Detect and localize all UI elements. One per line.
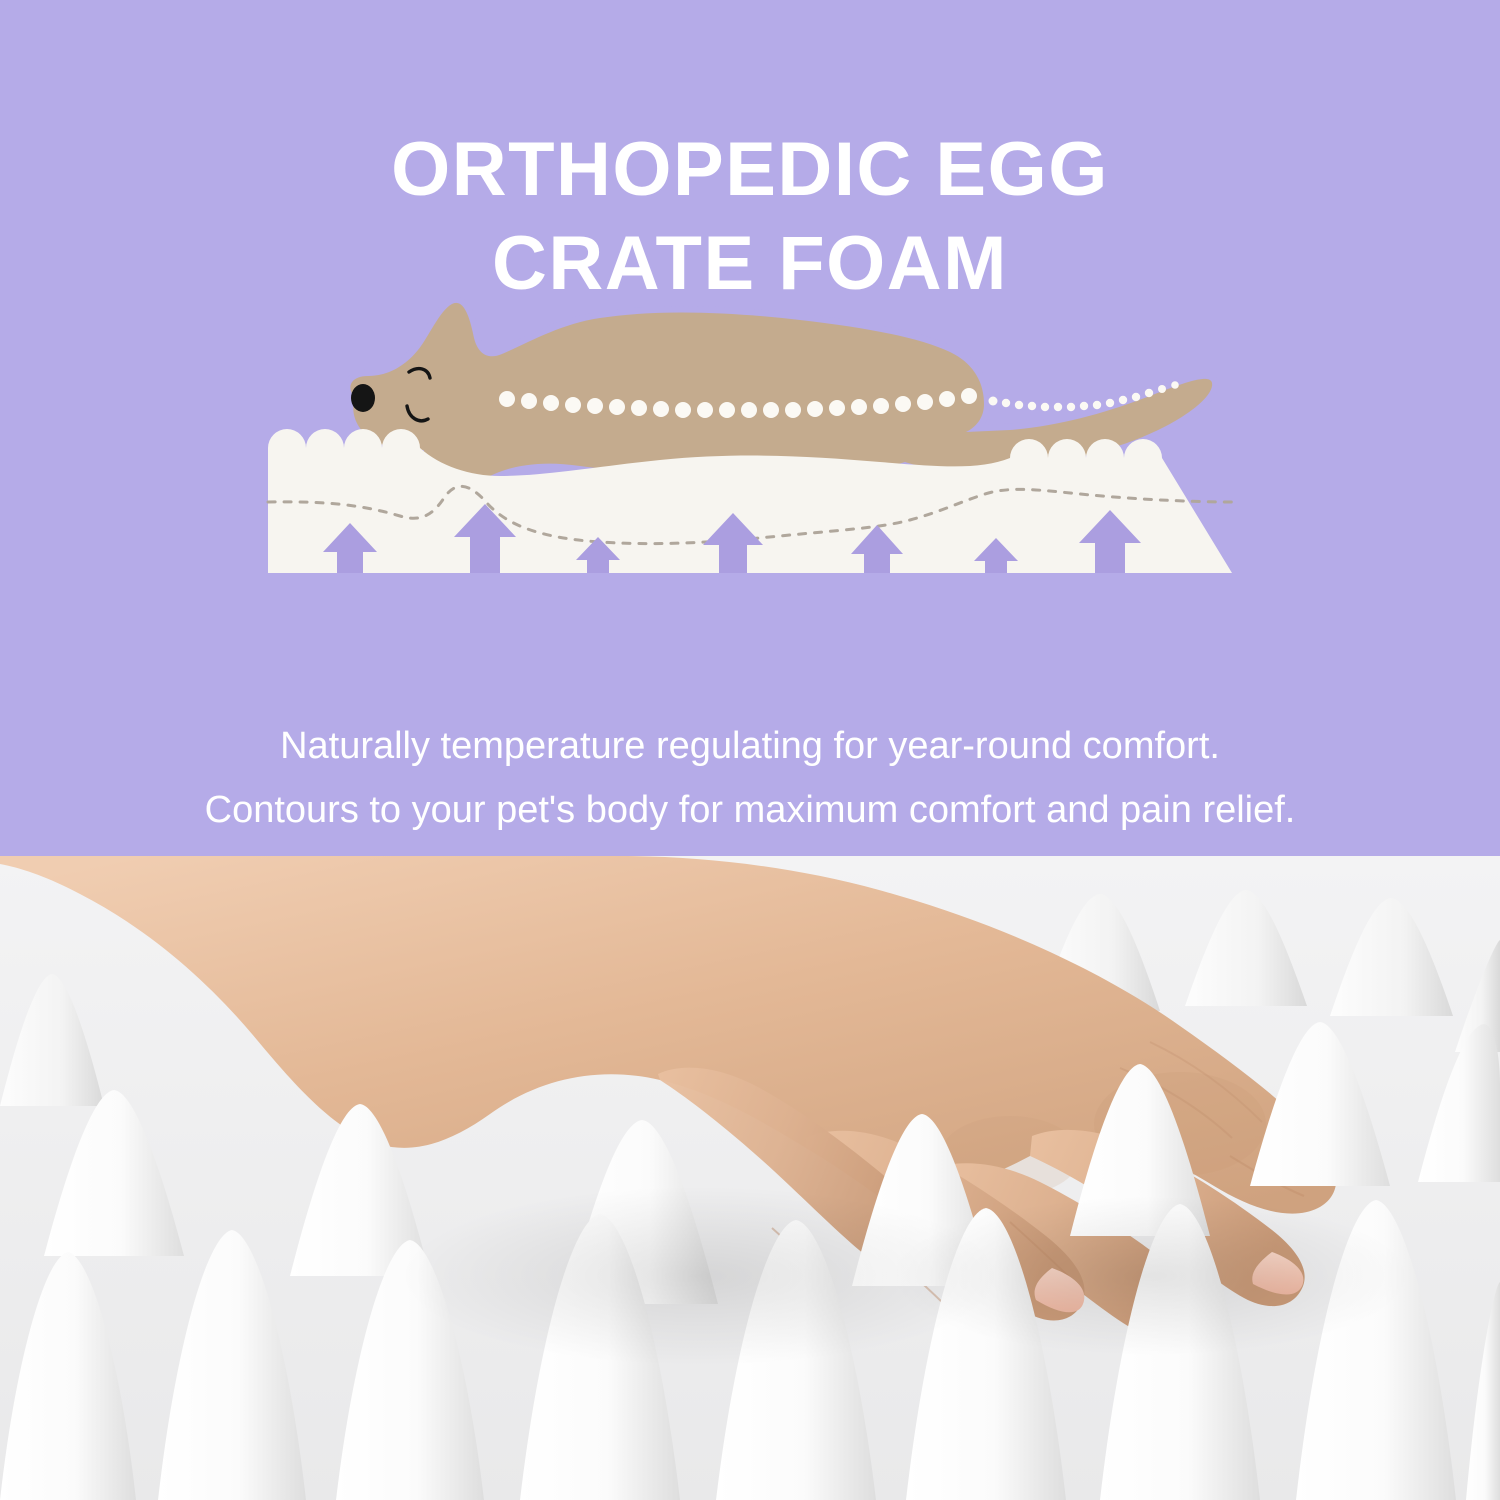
product-infographic-page: ORTHOPEDIC EGG CRATE FOAM bbox=[0, 0, 1500, 1500]
dog-foam-illustration bbox=[0, 280, 1500, 600]
dog-nose-icon bbox=[351, 384, 375, 412]
feature-description-line-1: Naturally temperature regulating for yea… bbox=[0, 714, 1500, 778]
foam-photo bbox=[0, 856, 1500, 1500]
feature-description-line-2: Contours to your pet's body for maximum … bbox=[0, 778, 1500, 842]
feature-panel: ORTHOPEDIC EGG CRATE FOAM bbox=[0, 0, 1500, 856]
feature-description: Naturally temperature regulating for yea… bbox=[0, 714, 1500, 842]
contact-shadow bbox=[890, 1196, 1410, 1356]
